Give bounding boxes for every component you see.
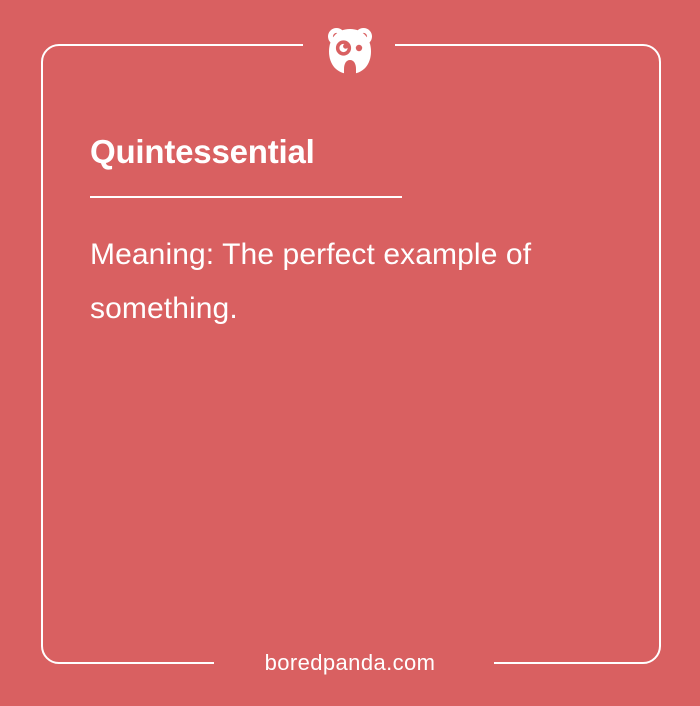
bored-panda-logo-icon: [325, 24, 375, 78]
word-definition-card: Quintessential Meaning: The perfect exam…: [0, 0, 700, 706]
title-divider: [90, 196, 402, 198]
page-title: Quintessential: [90, 132, 315, 172]
definition-text: Meaning: The perfect example of somethin…: [90, 228, 630, 336]
source-url-label: boredpanda.com: [0, 650, 700, 676]
